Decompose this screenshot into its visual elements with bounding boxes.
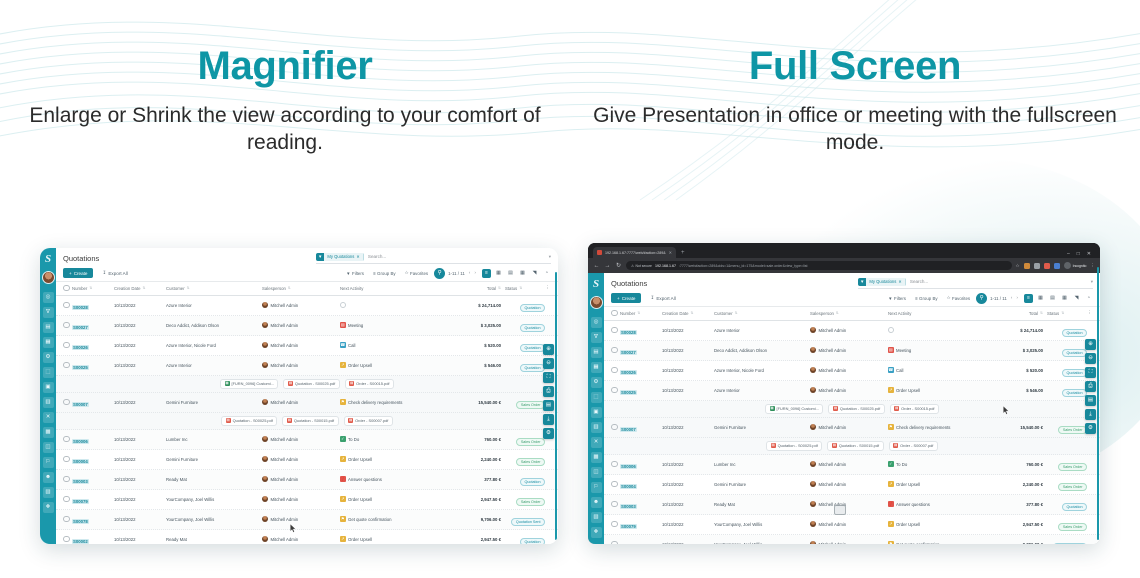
sidebar-item-accounting[interactable]: ⚐: [591, 482, 602, 493]
settings-button[interactable]: ⚙: [1085, 423, 1096, 434]
print-button[interactable]: ⎙: [543, 386, 554, 397]
cell-next-activity[interactable]: ↗Order Upsell: [888, 481, 995, 487]
table-body-left: S0002810/13/2022Azure InteriorMitchell A…: [56, 296, 558, 545]
row-checkbox[interactable]: [63, 516, 70, 523]
row-checkbox[interactable]: [611, 481, 618, 488]
table-row[interactable]: S0002710/13/2022Deco Addict, Addison Ols…: [604, 341, 1100, 361]
close-icon[interactable]: ✕: [1087, 250, 1091, 258]
cell-creation-date: 10/13/2022: [662, 368, 714, 373]
search-placeholder: Search...: [368, 254, 386, 259]
row-checkbox[interactable]: [63, 399, 70, 406]
cell-salesperson: Mitchell Admin: [810, 387, 888, 393]
avatar: [262, 302, 268, 308]
row-checkbox[interactable]: [611, 461, 618, 468]
cell-next-activity[interactable]: ↗Order Upsell: [340, 362, 453, 368]
table-row[interactable]: S0002810/13/2022Azure InteriorMitchell A…: [604, 321, 1100, 341]
table-row[interactable]: S0007910/13/2022YourCompany, Joel Willis…: [604, 515, 1100, 535]
group-by-button[interactable]: ≡ Group By: [370, 271, 399, 276]
pager: 1-11 / 11 ‹ ›: [990, 296, 1018, 301]
quotations-table-right: Number⇅ Creation Date⇅ Customer⇅ Salespe…: [604, 306, 1100, 545]
favorites-button[interactable]: ☆ Favorites: [402, 270, 432, 276]
cell-next-activity[interactable]: ⚑Check delivery requirements: [888, 424, 995, 430]
layers-icon: ≡: [373, 271, 376, 276]
attachment-label: [FURN_0096] Customi...: [232, 381, 274, 386]
column-header-status[interactable]: Status⇅: [501, 286, 545, 291]
attachment-chip[interactable]: ▦[FURN_0096] Customi...: [765, 404, 823, 414]
attachment-chip[interactable]: ▤Quotation - S00025.pdf: [221, 416, 277, 426]
zoom-out-button[interactable]: ⊖: [1085, 353, 1096, 364]
sidebar-item-grid[interactable]: ▥: [43, 397, 54, 408]
row-checkbox[interactable]: [611, 424, 618, 431]
row-checkbox[interactable]: [63, 476, 70, 483]
close-icon[interactable]: ✕: [669, 250, 672, 255]
cell-customer: Azure Interior: [166, 363, 262, 368]
caret-down-icon[interactable]: ▾: [549, 254, 551, 260]
activity-type-icon: ✓: [340, 436, 346, 442]
status-badge: Quotation: [1062, 329, 1087, 337]
magnifier-icon[interactable]: ⚲: [434, 268, 445, 279]
cell-number[interactable]: S00025: [620, 390, 637, 395]
avatar: [262, 536, 268, 542]
cell-creation-date: 10/13/2022: [114, 400, 166, 405]
avatar: [262, 342, 268, 348]
cell-next-activity[interactable]: ⚑Get quote confirmation: [888, 541, 995, 544]
cell-salesperson: Mitchell Admin: [810, 347, 888, 353]
cell-number[interactable]: S00003: [72, 479, 89, 484]
cell-number[interactable]: S00028: [72, 305, 89, 310]
column-header-customer[interactable]: Customer⇅: [714, 311, 810, 316]
chevron-right-icon[interactable]: ›: [1016, 296, 1018, 301]
export-all-button[interactable]: ↧ Export All: [646, 293, 679, 304]
column-header-customer[interactable]: Customer⇅: [166, 286, 262, 291]
search-input[interactable]: ▼ My Quotations ✕ Search... ▾: [316, 253, 551, 264]
browser-toolbar-icons: ☆ Incognito ⋮: [1016, 262, 1095, 269]
avatar[interactable]: [590, 296, 603, 309]
cell-number[interactable]: S00007: [72, 402, 89, 407]
cell-number[interactable]: S00002: [72, 539, 89, 544]
pdf-icon: ▤: [894, 406, 899, 411]
sidebar-item-calendar[interactable]: ▤: [43, 322, 54, 333]
activity-label: Check delivery requirements: [348, 400, 402, 405]
cell-customer: Azure Interior, Nicole Ford: [714, 368, 810, 373]
graph-view[interactable]: ◥: [530, 269, 539, 278]
close-icon[interactable]: ✕: [898, 278, 902, 286]
select-all-checkbox[interactable]: [63, 285, 70, 292]
cell-number[interactable]: S00025: [72, 365, 89, 370]
sidebar-item-chart[interactable]: ⬚: [591, 392, 602, 403]
control-panel-right-group: ▼ Filters ≡ Group By ☆ Favorites ⚲: [343, 268, 551, 279]
table-row[interactable]: S0000410/13/2022Gemini FurnitureMitchell…: [56, 450, 558, 470]
activity-view[interactable]: ◔: [542, 269, 551, 278]
cell-next-activity[interactable]: ✓To Do: [340, 436, 453, 442]
url-input[interactable]: ⚠ Not secure 192.168.1.67 :7777/web#acti…: [626, 261, 1012, 270]
table-row[interactable]: S0002810/13/2022Azure InteriorMitchell A…: [56, 296, 558, 316]
add-activity-icon[interactable]: [340, 302, 346, 308]
table-row[interactable]: S0000710/13/2022Gemini FurnitureMitchell…: [56, 393, 558, 413]
save-button[interactable]: ▤: [543, 400, 554, 411]
cell-next-activity[interactable]: ↗Order Upsell: [888, 387, 995, 393]
cell-number[interactable]: S00006: [72, 439, 89, 444]
sidebar-item-purchase[interactable]: ◫: [43, 442, 54, 453]
column-header-creation-date[interactable]: Creation Date⇅: [114, 286, 166, 291]
table-row[interactable]: S0007810/13/2022YourCompany, Joel Willis…: [604, 535, 1100, 545]
sidebar-item-discuss[interactable]: ◎: [591, 317, 602, 328]
headline-column-magnifier: Magnifier Enlarge or Shrink the view acc…: [0, 0, 570, 200]
attachment-chip[interactable]: ▤Order - S00015.pdf: [890, 404, 939, 414]
headline-column-fullscreen: Full Screen Give Presentation in office …: [570, 0, 1140, 200]
search-facet-my-quotations[interactable]: ▼ My Quotations ✕: [858, 278, 906, 286]
print-button[interactable]: ⎙: [1085, 381, 1096, 392]
row-checkbox[interactable]: [63, 436, 70, 443]
table-row[interactable]: S0007810/13/2022YourCompany, Joel Willis…: [56, 510, 558, 530]
pivot-view[interactable]: ▦: [518, 269, 527, 278]
cell-number[interactable]: S00026: [620, 370, 637, 375]
cell-number[interactable]: S00079: [620, 524, 637, 529]
activity-type-icon: ↗: [340, 536, 346, 542]
cell-next-activity[interactable]: ☎Call: [340, 342, 453, 348]
cell-number[interactable]: S00028: [620, 330, 637, 335]
favorites-button[interactable]: ☆ Favorites: [944, 295, 974, 301]
star-icon[interactable]: ☆: [1016, 263, 1020, 269]
sidebar-item-accounting[interactable]: ⚐: [43, 457, 54, 468]
cell-salesperson: Mitchell Admin: [810, 327, 888, 333]
chevron-right-icon[interactable]: ›: [474, 271, 476, 276]
fullscreen-button[interactable]: ⛶: [543, 372, 554, 383]
attachment-chip[interactable]: ▤Quotation - S00025.pdf: [283, 379, 339, 389]
sidebar-item-sales[interactable]: ▩: [591, 452, 602, 463]
zoom-out-button[interactable]: ⊖: [543, 358, 554, 369]
cell-number[interactable]: S00026: [72, 345, 89, 350]
salesperson-label: Mitchell Admin: [271, 363, 299, 368]
row-checkbox[interactable]: [63, 322, 70, 329]
security-indicator[interactable]: ⚠ Not secure: [631, 264, 652, 268]
cell-total: 9,706.00 €: [995, 542, 1043, 545]
table-row[interactable]: S0000610/13/2022Lumber IncMitchell Admin…: [604, 455, 1100, 475]
sidebar-item-website[interactable]: ▧: [591, 512, 602, 523]
row-checkbox[interactable]: [611, 367, 618, 374]
app-logo-icon[interactable]: S: [590, 278, 603, 291]
avatar: [810, 387, 816, 393]
cell-next-activity[interactable]: ↗Order Upsell: [888, 521, 995, 527]
table-row[interactable]: S0000310/13/2022Ready MatMitchell Admin❓…: [56, 470, 558, 490]
cell-next-activity[interactable]: ▤Meeting: [888, 347, 995, 353]
cell-number[interactable]: S00027: [620, 350, 637, 355]
avatar: [262, 436, 268, 442]
puzzle-icon[interactable]: [1024, 263, 1030, 269]
row-checkbox[interactable]: [611, 501, 618, 508]
attachment-chip[interactable]: ▤Quotation - S00025.pdf: [766, 441, 822, 451]
settings-button[interactable]: ⚙: [543, 428, 554, 439]
sidebar-item-apps[interactable]: ❖: [43, 502, 54, 513]
activity-label: Order Upsell: [348, 457, 372, 462]
table-row[interactable]: S0007910/13/2022YourCompany, Joel Willis…: [56, 490, 558, 510]
arrow-right-icon[interactable]: →: [604, 263, 611, 269]
cell-number[interactable]: S00007: [620, 427, 637, 432]
sidebar-item-filter[interactable]: ∇: [43, 307, 54, 318]
avatar: [262, 322, 268, 328]
row-checkbox[interactable]: [611, 541, 618, 544]
cell-number[interactable]: S00004: [72, 459, 89, 464]
reload-icon[interactable]: ↻: [615, 262, 622, 269]
pdf-icon: ▤: [348, 418, 353, 423]
sidebar-item-crm[interactable]: ✕: [591, 437, 602, 448]
avatar: [810, 481, 816, 487]
app-sidebar-left: S ◎∇▤▦⚙⬚▣▥✕▩◫⚐☻▧❖: [40, 248, 56, 544]
vertical-scrollbar-left[interactable]: [555, 272, 557, 540]
fullscreen-button[interactable]: ⛶: [1085, 367, 1096, 378]
column-header-status[interactable]: Status⇅: [1043, 311, 1087, 316]
attachment-label: Order - S00007.pdf: [355, 418, 388, 423]
calendar-view[interactable]: ▤: [1048, 294, 1057, 303]
pdf-icon: ▤: [226, 418, 231, 423]
filters-button[interactable]: ▼ Filters: [343, 271, 367, 276]
kebab-menu-icon[interactable]: ⋮: [1090, 263, 1095, 269]
cell-creation-date: 10/13/2022: [662, 388, 714, 393]
add-activity-icon[interactable]: [888, 327, 894, 333]
row-checkbox[interactable]: [63, 342, 70, 349]
sidebar-item-purchase[interactable]: ◫: [591, 467, 602, 478]
activity-label: Get quote confirmation: [896, 542, 939, 545]
sidebar-item-grid[interactable]: ▥: [591, 422, 602, 433]
maximize-icon[interactable]: □: [1077, 250, 1080, 258]
table-header-left: Number⇅ Creation Date⇅ Customer⇅ Salespe…: [56, 281, 558, 296]
attachment-row-top: ▦[FURN_0096] Customi...▤Quotation - S000…: [56, 376, 558, 393]
cell-customer: Gemini Furniture: [714, 425, 810, 430]
cell-next-activity[interactable]: ⚑Get quote confirmation: [340, 516, 453, 522]
status-badge: Quotation Sent: [1053, 543, 1087, 544]
column-header-number[interactable]: Number⇅: [72, 286, 114, 291]
row-checkbox[interactable]: [611, 387, 618, 394]
avatar: [262, 476, 268, 482]
cell-number[interactable]: S00003: [620, 504, 637, 509]
zoom-in-button[interactable]: ⊕: [1085, 339, 1096, 350]
table-row[interactable]: S0000710/13/2022Gemini FurnitureMitchell…: [604, 418, 1100, 438]
kanban-view[interactable]: ▦: [494, 269, 503, 278]
cell-next-activity[interactable]: ↗Order Upsell: [340, 496, 453, 502]
cell-creation-date: 10/13/2022: [114, 363, 166, 368]
odoo-app-right: S ◎∇▤▦⚙⬚▣▥✕▩◫⚐☻▧❖ Quotations ▼ My Quotat…: [588, 273, 1100, 544]
cell-next-activity[interactable]: ❓Answer questions: [888, 501, 995, 507]
cell-number[interactable]: S00027: [72, 325, 89, 330]
cell-next-activity[interactable]: [340, 302, 453, 308]
status-badge: Sales Order: [1058, 483, 1087, 491]
attachment-chip[interactable]: ▤Quotation - S00025.pdf: [828, 404, 884, 414]
row-checkbox[interactable]: [63, 536, 70, 543]
calendar-view[interactable]: ▤: [506, 269, 515, 278]
row-checkbox[interactable]: [611, 327, 618, 334]
avatar: [262, 516, 268, 522]
search-input[interactable]: ▼ My Quotations ✕ Search... ▾: [858, 278, 1093, 289]
table-row[interactable]: S0000210/13/2022Ready MatMitchell Admin↗…: [56, 530, 558, 545]
cell-customer: Gemini Furniture: [714, 482, 810, 487]
cell-next-activity[interactable]: ☎Call: [888, 367, 995, 373]
chevron-left-icon[interactable]: ‹: [1011, 296, 1013, 301]
cell-next-activity[interactable]: ↗Order Upsell: [340, 456, 453, 462]
cell-creation-date: 10/13/2022: [114, 537, 166, 542]
sidebar-item-sales[interactable]: ▩: [43, 427, 54, 438]
attachment-row-bottom: ▤Quotation - S00025.pdf▤Quotation - S000…: [56, 413, 558, 430]
sidebar-item-employees[interactable]: ☻: [43, 472, 54, 483]
cell-number[interactable]: S00079: [72, 499, 89, 504]
salesperson-label: Mitchell Admin: [271, 537, 299, 542]
cast-icon[interactable]: [1034, 263, 1040, 269]
activity-view[interactable]: ◔: [1084, 294, 1093, 303]
search-facet-my-quotations[interactable]: ▼ My Quotations ✕: [316, 253, 364, 261]
activity-type-icon: ⚑: [340, 399, 346, 405]
create-button[interactable]: + Create: [611, 293, 641, 303]
column-header-next-activity[interactable]: Next Activity: [888, 311, 995, 316]
salesperson-label: Mitchell Admin: [819, 482, 847, 487]
cell-number[interactable]: S00078: [72, 519, 89, 524]
create-button[interactable]: + Create: [63, 268, 93, 278]
cell-next-activity[interactable]: [888, 327, 995, 333]
new-tab-button[interactable]: +: [681, 248, 685, 258]
column-header-number[interactable]: Number⇅: [620, 311, 662, 316]
row-checkbox[interactable]: [63, 456, 70, 463]
row-checkbox[interactable]: [611, 347, 618, 354]
row-checkbox[interactable]: [63, 496, 70, 503]
pager: 1-11 / 11 ‹ ›: [448, 271, 476, 276]
sidebar-item-discuss[interactable]: ◎: [43, 292, 54, 303]
cell-salesperson: Mitchell Admin: [810, 424, 888, 430]
table-row[interactable]: S0002710/13/2022Deco Addict, Addison Ols…: [56, 316, 558, 336]
breadcrumb: Quotations: [611, 279, 647, 288]
cell-next-activity[interactable]: ❓Answer questions: [340, 476, 453, 482]
sidebar-item-chart[interactable]: ⬚: [43, 367, 54, 378]
column-header-total[interactable]: Total⇅: [453, 286, 501, 291]
arrow-left-icon[interactable]: ←: [593, 263, 600, 269]
avatar: [810, 501, 816, 507]
column-header-options[interactable]: ⋮: [545, 285, 551, 291]
cell-number[interactable]: S00006: [620, 464, 637, 469]
export-button[interactable]: ⤓: [543, 414, 554, 425]
zoom-in-button[interactable]: ⊕: [543, 344, 554, 355]
control-panel-left: Quotations ▼ My Quotations ✕ Search... ▾: [56, 248, 558, 281]
bell-icon[interactable]: [1044, 263, 1050, 269]
cell-next-activity[interactable]: ⚑Check delivery requirements: [340, 399, 453, 405]
apps-icon[interactable]: [1054, 263, 1060, 269]
row-checkbox[interactable]: [63, 362, 70, 369]
sidebar-item-settings[interactable]: ⚙: [591, 377, 602, 388]
close-icon[interactable]: ✕: [356, 253, 360, 261]
attachment-label: Order - S00015.pdf: [901, 406, 934, 411]
mouse-cursor: [1003, 406, 1010, 415]
cell-creation-date: 10/13/2022: [662, 328, 714, 333]
select-all-checkbox[interactable]: [611, 310, 618, 317]
avatar: [810, 347, 816, 353]
cell-next-activity[interactable]: ✓To Do: [888, 461, 995, 467]
sidebar-item-filter[interactable]: ∇: [591, 332, 602, 343]
attachment-row-bottom: ▤Quotation - S00025.pdf▤Quotation - S000…: [604, 438, 1100, 455]
cell-next-activity[interactable]: ↗Order Upsell: [340, 536, 453, 542]
column-header-salesperson[interactable]: Salesperson⇅: [262, 286, 340, 291]
list-view[interactable]: ≡: [1024, 294, 1033, 303]
cell-salesperson: Mitchell Admin: [262, 436, 340, 442]
kanban-view[interactable]: ▦: [1036, 294, 1045, 303]
cell-next-activity[interactable]: ▤Meeting: [340, 322, 453, 328]
table-row[interactable]: S0002610/13/2022Azure Interior, Nicole F…: [56, 336, 558, 356]
layers-icon: ≡: [915, 296, 918, 301]
cell-customer: Gemini Furniture: [166, 400, 262, 405]
table-row[interactable]: S0000310/13/2022Ready MatMitchell Admin❓…: [604, 495, 1100, 515]
sidebar-item-website[interactable]: ▧: [43, 487, 54, 498]
attachment-chip[interactable]: ▤Quotation - S00015.pdf: [827, 441, 883, 451]
status-badge: Quotation: [520, 478, 545, 486]
magnifier-icon[interactable]: ⚲: [976, 293, 987, 304]
caret-down-icon[interactable]: ▾: [1091, 279, 1093, 285]
column-header-next-activity[interactable]: Next Activity: [340, 286, 453, 291]
table-row[interactable]: S0002510/13/2022Azure InteriorMitchell A…: [604, 381, 1100, 401]
app-logo-icon[interactable]: S: [42, 253, 55, 266]
control-panel-top-row: Quotations ▼ My Quotations ✕ Search... ▾: [63, 253, 551, 264]
sidebar-item-calendar[interactable]: ▤: [591, 347, 602, 358]
attachment-chip[interactable]: ▤Order - S00015.pdf: [345, 379, 394, 389]
minimize-icon[interactable]: –: [1067, 250, 1070, 258]
browser-tab[interactable]: 192.168.1.67:7777/web/#action=289& ✕: [593, 247, 676, 258]
sidebar-item-apps[interactable]: ❖: [591, 527, 602, 538]
pdf-icon: ▤: [832, 443, 837, 448]
export-all-button[interactable]: ↧ Export All: [98, 268, 131, 279]
filters-button[interactable]: ▼ Filters: [885, 296, 909, 301]
avatar[interactable]: [42, 271, 55, 284]
sidebar-item-contacts[interactable]: ▦: [591, 362, 602, 373]
group-by-button[interactable]: ≡ Group By: [912, 296, 941, 301]
avatar: [262, 399, 268, 405]
sidebar-item-inventory[interactable]: ▣: [591, 407, 602, 418]
table-row[interactable]: S0002610/13/2022Azure Interior, Nicole F…: [604, 361, 1100, 381]
cell-number[interactable]: S00004: [620, 484, 637, 489]
sidebar-item-crm[interactable]: ✕: [43, 412, 54, 423]
sidebar-item-employees[interactable]: ☻: [591, 497, 602, 508]
table-row[interactable]: S0002510/13/2022Azure InteriorMitchell A…: [56, 356, 558, 376]
sidebar-item-inventory[interactable]: ▣: [43, 382, 54, 393]
attachment-chip[interactable]: ▦[FURN_0096] Customi...: [220, 379, 278, 389]
activity-type-icon: ☎: [340, 342, 346, 348]
vertical-scrollbar-right[interactable]: [1097, 267, 1099, 540]
column-header-creation-date[interactable]: Creation Date⇅: [662, 311, 714, 316]
row-checkbox[interactable]: [63, 302, 70, 309]
table-row[interactable]: S0000410/13/2022Gemini FurnitureMitchell…: [604, 475, 1100, 495]
sidebar-icon-list-left: ◎∇▤▦⚙⬚▣▥✕▩◫⚐☻▧❖: [43, 292, 54, 513]
cell-creation-date: 10/13/2022: [114, 497, 166, 502]
graph-view[interactable]: ◥: [1072, 294, 1081, 303]
profile-button[interactable]: Incognito: [1064, 262, 1087, 269]
export-button[interactable]: ⤓: [1085, 409, 1096, 420]
salesperson-label: Mitchell Admin: [271, 437, 299, 442]
column-header-options[interactable]: ⋮: [1087, 310, 1093, 316]
chevron-left-icon[interactable]: ‹: [469, 271, 471, 276]
column-header-salesperson[interactable]: Salesperson⇅: [810, 311, 888, 316]
attachment-chip[interactable]: ▤Order - S00007.pdf: [889, 441, 938, 451]
table-row[interactable]: S0000610/13/2022Lumber IncMitchell Admin…: [56, 430, 558, 450]
pager-text: 1-11 / 11: [990, 296, 1007, 301]
sidebar-item-settings[interactable]: ⚙: [43, 352, 54, 363]
attachment-chip[interactable]: ▤Order - S00007.pdf: [344, 416, 393, 426]
attachment-chip[interactable]: ▤Quotation - S00015.pdf: [282, 416, 338, 426]
status-badge: Sales Order: [516, 458, 545, 466]
save-button[interactable]: ▤: [1085, 395, 1096, 406]
column-header-total[interactable]: Total⇅: [995, 311, 1043, 316]
pivot-view[interactable]: ▦: [1060, 294, 1069, 303]
headline-columns: Magnifier Enlarge or Shrink the view acc…: [0, 0, 1140, 200]
cell-salesperson: Mitchell Admin: [810, 461, 888, 467]
cell-customer: YourCompany, Joel Willis: [714, 522, 810, 527]
row-checkbox[interactable]: [611, 521, 618, 528]
sidebar-item-contacts[interactable]: ▦: [43, 337, 54, 348]
status-badge: Quotation: [520, 324, 545, 332]
list-view[interactable]: ≡: [482, 269, 491, 278]
cell-total: 15,540.00 €: [995, 425, 1043, 430]
